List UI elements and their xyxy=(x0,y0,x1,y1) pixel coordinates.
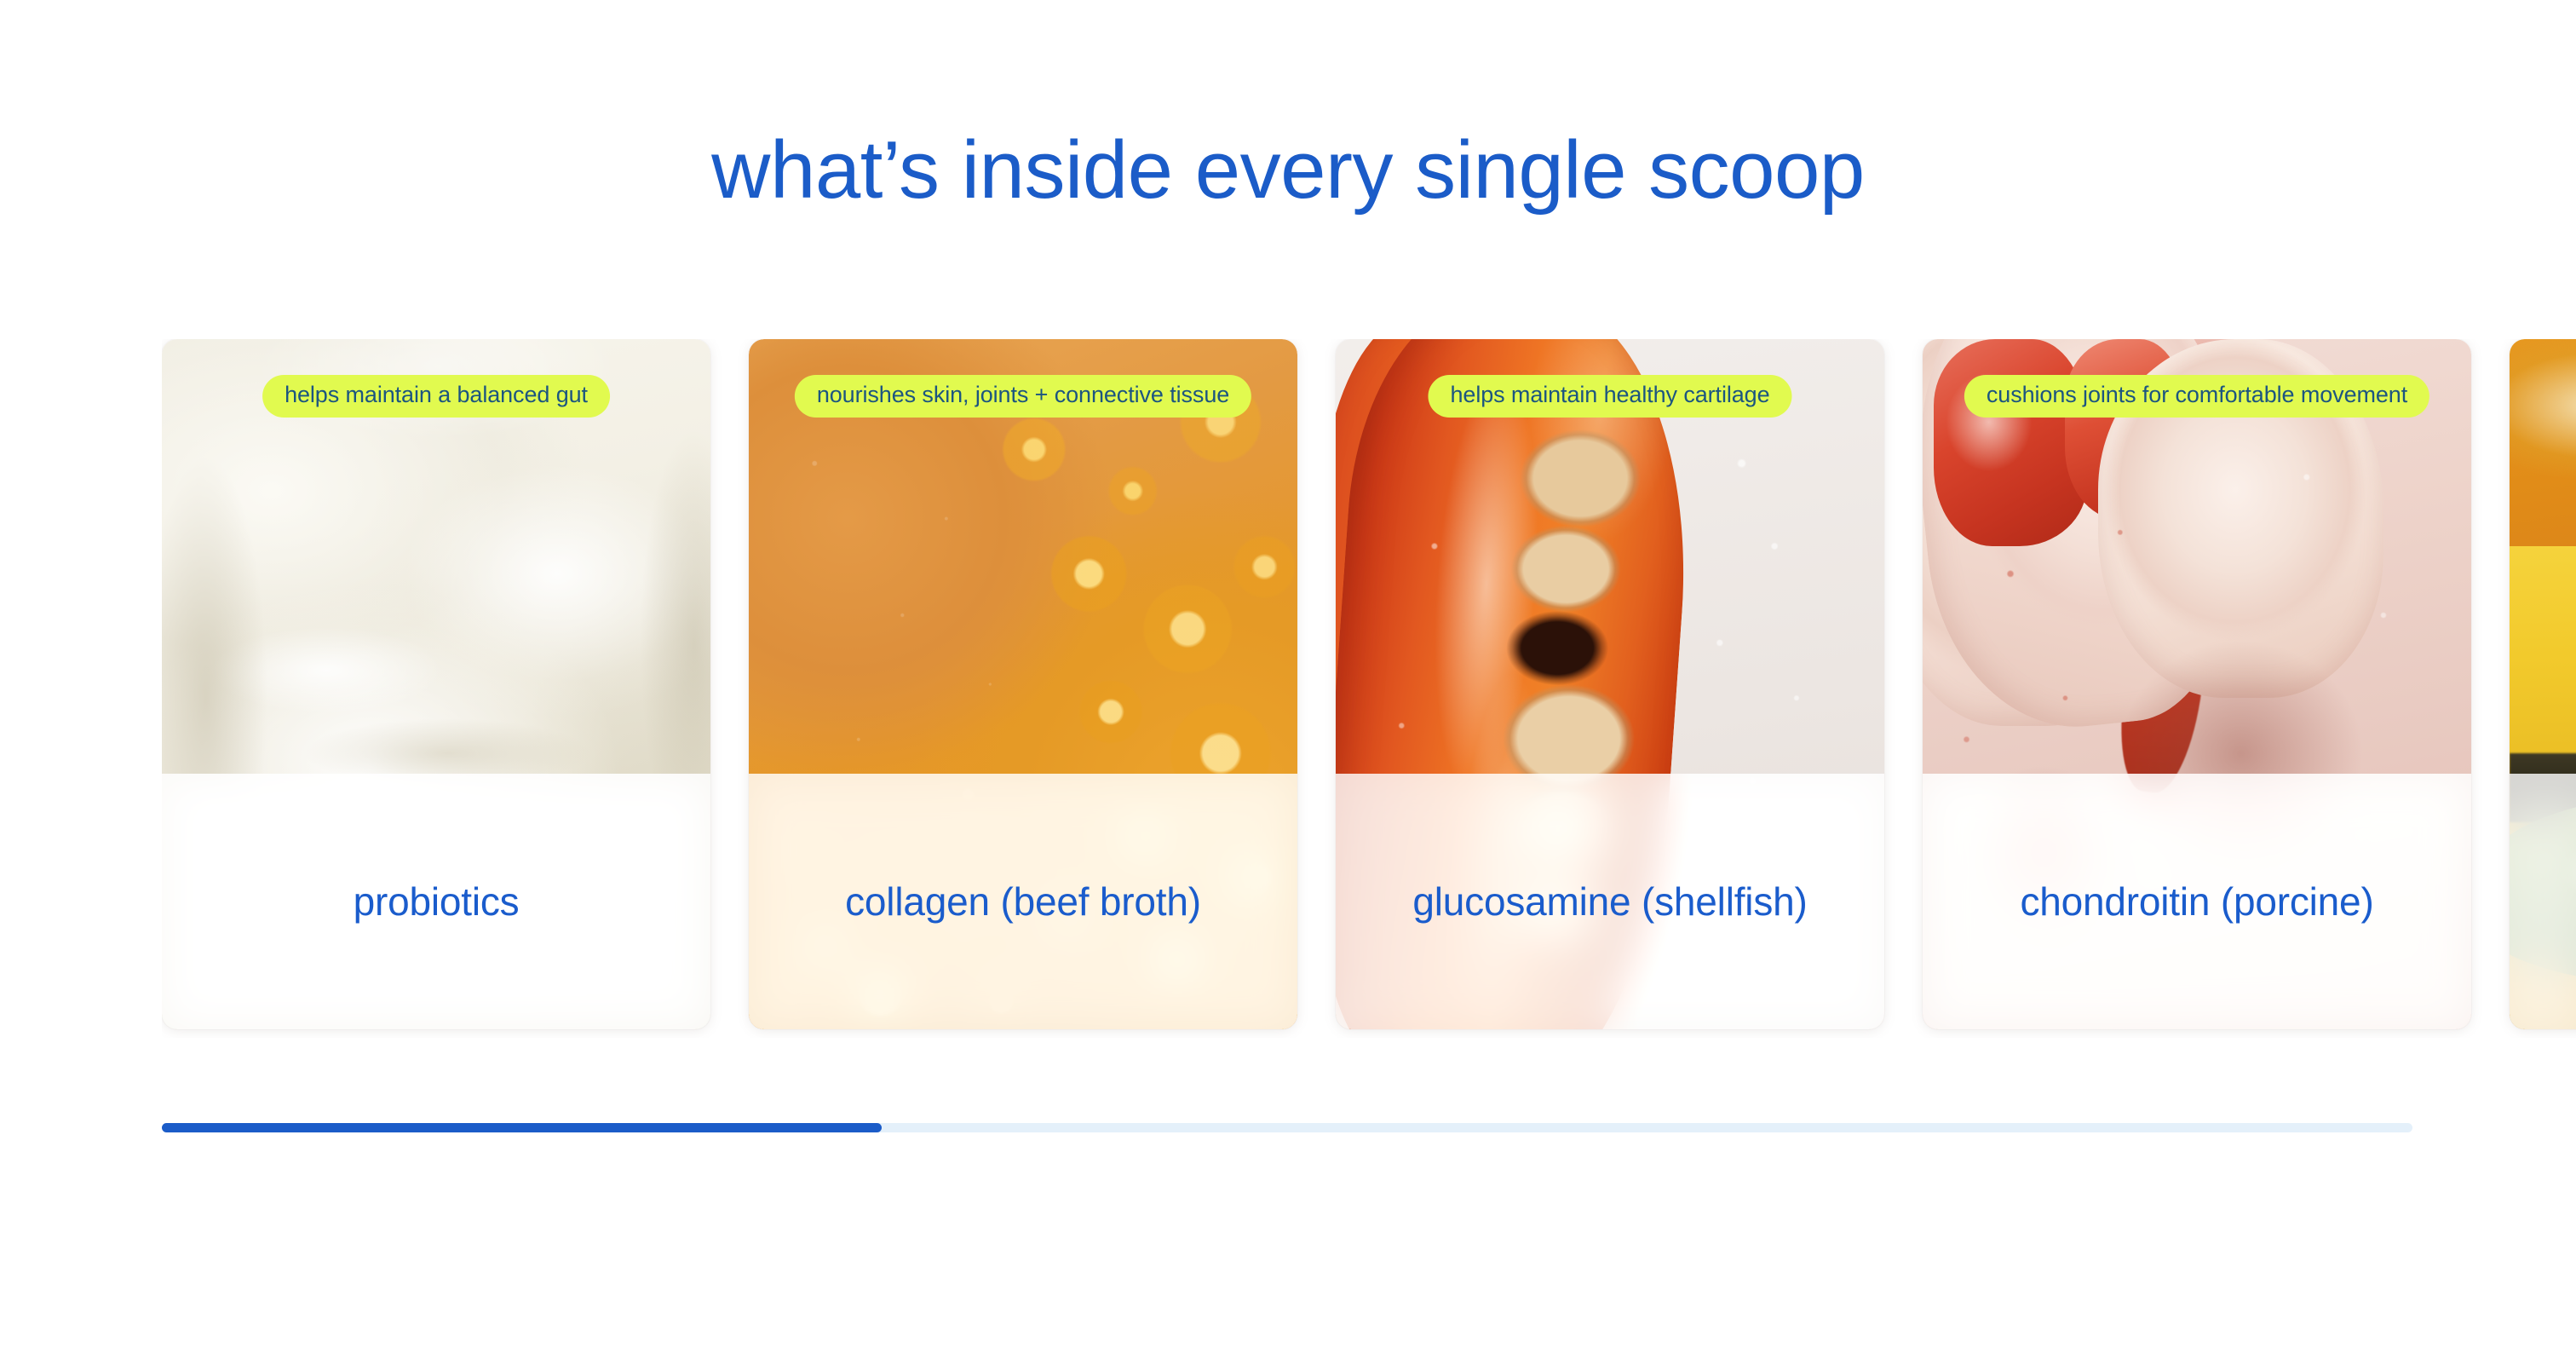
ingredient-card[interactable]: nourishes skin, joints + connective tiss… xyxy=(749,339,1297,1029)
ingredient-label-plate: glucosamine (shellfish) xyxy=(1336,774,1884,1029)
ingredient-label-plate: chondroitin (porcine) xyxy=(1923,774,2471,1029)
ingredient-benefit-badge: nourishes skin, joints + connective tiss… xyxy=(795,375,1251,418)
ingredient-name: collagen (beef broth) xyxy=(830,879,1216,925)
ingredient-label-plate: probiotics xyxy=(162,774,710,1029)
ingredient-name: probiotics xyxy=(338,879,535,925)
ingredient-name: glucosamine (shellfish) xyxy=(1397,879,1822,925)
carousel-track[interactable]: helps maintain a balanced gut probiotics… xyxy=(162,339,2576,1038)
ingredient-benefit-badge: cushions joints for comfortable movement xyxy=(1964,375,2429,418)
page-title: what’s inside every single scoop xyxy=(0,126,2576,215)
squash-flesh xyxy=(2510,546,2576,767)
carousel-scrollbar-thumb[interactable] xyxy=(162,1123,882,1132)
ingredient-carousel[interactable]: helps maintain a balanced gut probiotics… xyxy=(162,339,2576,1038)
ingredient-benefit-badge: helps maintain a balanced gut xyxy=(262,375,610,418)
ingredient-label-plate: p xyxy=(2510,774,2576,1029)
carousel-section: what’s inside every single scoop helps m… xyxy=(0,0,2576,1348)
ingredient-card[interactable]: helps maintain a balanced gut probiotics xyxy=(162,339,710,1029)
ingredient-card[interactable]: helps maintain healthy cartilage glucosa… xyxy=(1336,339,1884,1029)
ingredient-label-plate: collagen (beef broth) xyxy=(749,774,1297,1029)
squash-pulp xyxy=(2510,339,2576,546)
ingredient-benefit-badge: helps maintain healthy cartilage xyxy=(1428,375,1791,418)
ingredient-card[interactable]: fe p xyxy=(2510,339,2576,1029)
ingredient-name: chondroitin (porcine) xyxy=(2004,879,2389,925)
carousel-scrollbar-track[interactable] xyxy=(162,1123,2412,1132)
ingredient-card[interactable]: cushions joints for comfortable movement… xyxy=(1923,339,2471,1029)
